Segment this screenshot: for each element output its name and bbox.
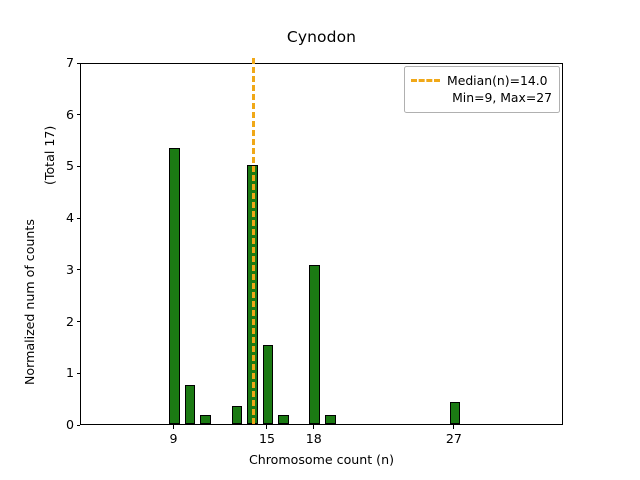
y-tick-label: 2 bbox=[52, 314, 74, 329]
y-tick-label: 5 bbox=[52, 158, 74, 173]
median-reference-line bbox=[252, 58, 255, 424]
y-tick-label: 7 bbox=[52, 55, 74, 70]
x-axis-title: Chromosome count (n) bbox=[80, 452, 563, 467]
x-tick-label: 9 bbox=[153, 431, 193, 446]
y-axis-title: Normalized num of counts bbox=[22, 219, 37, 385]
x-tick-label: 27 bbox=[434, 431, 474, 446]
y-axis-title-group: Normalized num of counts (Total 17) bbox=[0, 0, 40, 480]
y-tick-mark bbox=[77, 218, 81, 219]
x-tick-mark bbox=[313, 425, 314, 429]
legend-label-median: Median(n)=14.0 bbox=[447, 73, 548, 88]
legend-label-minmax: Min=9, Max=27 bbox=[452, 90, 552, 105]
bar bbox=[450, 402, 461, 424]
y-tick-mark bbox=[77, 321, 81, 322]
y-tick-label: 0 bbox=[52, 417, 74, 432]
y-tick-label: 3 bbox=[52, 262, 74, 277]
y-tick-mark bbox=[77, 269, 81, 270]
bar bbox=[263, 345, 274, 424]
legend-item-minmax: Min=9, Max=27 bbox=[411, 89, 553, 106]
y-tick-label: 6 bbox=[52, 107, 74, 122]
bar bbox=[200, 415, 211, 424]
bar bbox=[325, 415, 336, 424]
y-tick-mark bbox=[77, 166, 81, 167]
chart-legend: Median(n)=14.0 Min=9, Max=27 bbox=[404, 66, 560, 113]
legend-item-median: Median(n)=14.0 bbox=[411, 72, 553, 89]
bar bbox=[232, 406, 243, 424]
y-tick-mark bbox=[77, 373, 81, 374]
bar bbox=[309, 265, 320, 424]
y-tick-label: 1 bbox=[52, 365, 74, 380]
y-tick-label: 4 bbox=[52, 210, 74, 225]
y-tick-mark bbox=[77, 425, 81, 426]
chart-title: Cynodon bbox=[80, 28, 563, 46]
chart-figure: Cynodon Normalized num of counts (Total … bbox=[0, 0, 640, 480]
bar bbox=[278, 415, 289, 424]
x-tick-mark bbox=[173, 425, 174, 429]
x-tick-label: 18 bbox=[294, 431, 334, 446]
plot-area bbox=[81, 64, 562, 424]
x-tick-label: 15 bbox=[247, 431, 287, 446]
plot-axes bbox=[80, 63, 563, 425]
x-tick-mark bbox=[266, 425, 267, 429]
y-axis-subtitle: (Total 17) bbox=[42, 126, 57, 185]
bar bbox=[185, 385, 196, 424]
dashed-line-icon bbox=[411, 79, 440, 82]
y-tick-mark bbox=[77, 63, 81, 64]
y-tick-mark bbox=[77, 114, 81, 115]
x-tick-mark bbox=[453, 425, 454, 429]
bar bbox=[169, 148, 180, 424]
